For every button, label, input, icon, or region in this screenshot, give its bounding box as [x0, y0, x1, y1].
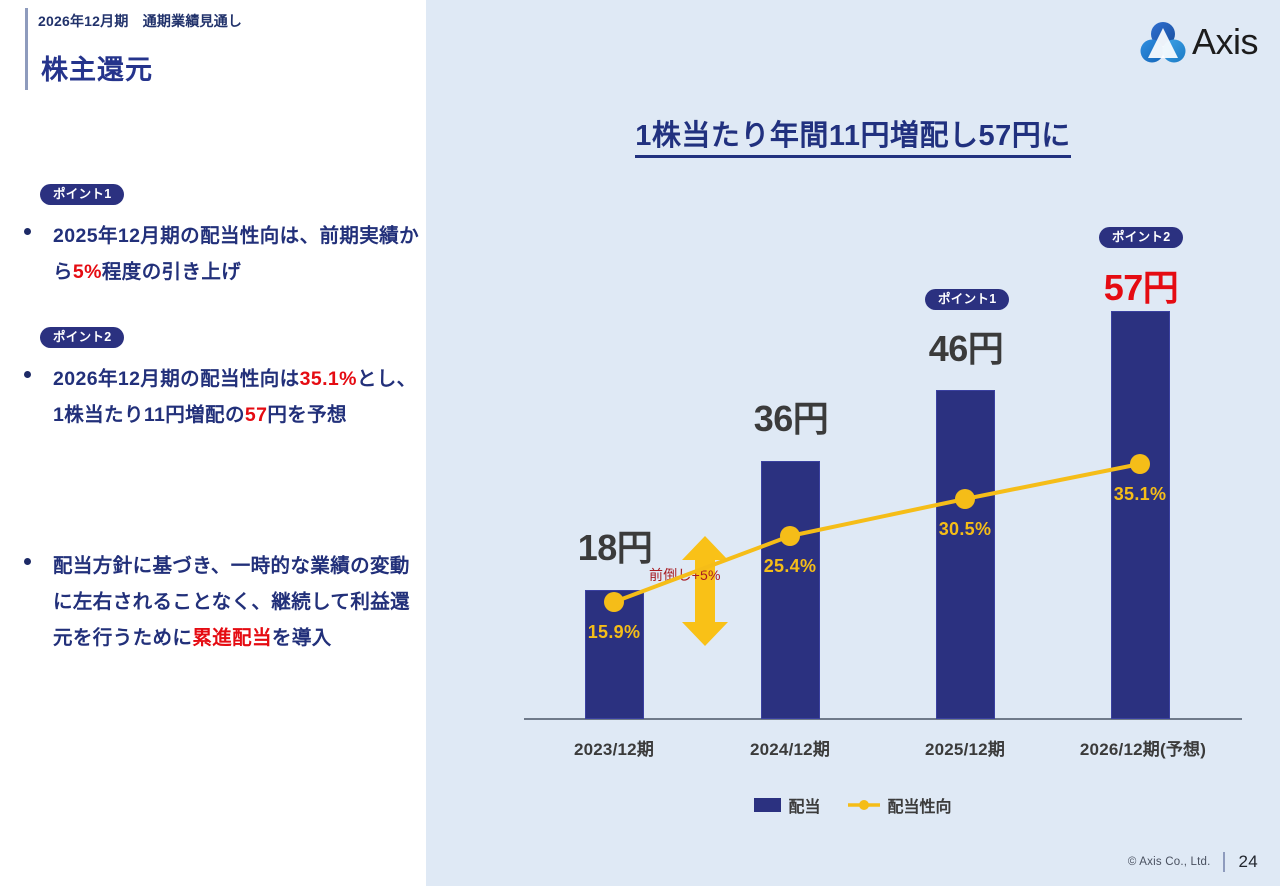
page-title: 株主還元	[41, 48, 153, 87]
bullet-2-seg-3: 57	[245, 404, 268, 426]
copyright-text: © Axis Co., Ltd.	[1128, 856, 1211, 868]
bullet-2-seg-1: 35.1%	[300, 368, 357, 390]
bullet-1-seg-2: 程度の引き上げ	[102, 261, 241, 283]
x-label-2024: 2024/12期	[715, 735, 865, 760]
bullet-item-3: 配当方針に基づき、一時的な業績の変動に左右されることなく、継続して利益還元を行う…	[24, 548, 424, 656]
x-label-2026: 2026/12期(予想)	[1058, 735, 1228, 760]
line-marker-2023	[604, 592, 624, 612]
bullet-3-seg-2: を導入	[272, 627, 332, 649]
chart-legend: 配当 配当性向	[426, 793, 1280, 817]
dividend-chart: 18円 36円 46円 57円 ポイント1 ポイント2 前倒し+5% 15.9%	[426, 0, 1280, 886]
legend-item-dividend: 配当	[754, 793, 820, 817]
slide-eyebrow: 2026年12月期 通期業績見通し	[38, 11, 242, 31]
page-number: 24	[1238, 852, 1258, 872]
bullet-dot-icon	[24, 558, 31, 565]
ratio-label-2025: 30.5%	[890, 519, 1040, 540]
bullet-item-2: 2026年12月期の配当性向は35.1%とし、1株当たり11円増配の57円を予想	[24, 361, 424, 433]
chart-panel: Axis 1株当たり年間11円増配し57円に 18円 36円 46円 57円 ポ…	[426, 0, 1280, 886]
slide-root: 2026年12月期 通期業績見通し 株主還元 ポイント1 2025年12月期の配…	[0, 0, 1280, 886]
point-badge-2: ポイント2	[40, 327, 124, 348]
bullet-1-seg-1: 5%	[73, 261, 102, 283]
bullet-dot-icon	[24, 371, 31, 378]
x-label-2023: 2023/12期	[539, 735, 689, 760]
ratio-label-2024: 25.4%	[715, 556, 865, 577]
bullet-2-seg-0: 2026年12月期の配当性向は	[53, 368, 300, 390]
footer-divider	[1223, 852, 1225, 872]
slide-footer: © Axis Co., Ltd. 24	[1128, 852, 1258, 872]
bullet-dot-icon	[24, 228, 31, 235]
bullet-item-1: 2025年12月期の配当性向は、前期実績から5%程度の引き上げ	[24, 218, 424, 290]
line-marker-2026	[1130, 454, 1150, 474]
bullet-text-1: 2025年12月期の配当性向は、前期実績から5%程度の引き上げ	[53, 218, 424, 290]
line-marker-2025	[955, 489, 975, 509]
point-badge-1: ポイント1	[40, 184, 124, 205]
bullet-3-seg-1: 累進配当	[192, 627, 272, 649]
ratio-label-2026: 35.1%	[1065, 484, 1215, 505]
ratio-label-2023: 15.9%	[539, 622, 689, 643]
legend-line-swatch-icon	[847, 798, 881, 812]
bullet-2-seg-4: 円を予想	[267, 404, 347, 426]
title-accent-rule	[25, 8, 28, 90]
bullet-text-2: 2026年12月期の配当性向は35.1%とし、1株当たり11円増配の57円を予想	[53, 361, 424, 433]
legend-label-dividend: 配当	[788, 793, 820, 817]
legend-label-payout-ratio: 配当性向	[888, 793, 952, 817]
x-label-2025: 2025/12期	[890, 735, 1040, 760]
bullet-text-3: 配当方針に基づき、一時的な業績の変動に左右されることなく、継続して利益還元を行う…	[53, 548, 424, 656]
legend-bar-swatch-icon	[754, 798, 781, 812]
legend-item-payout-ratio: 配当性向	[847, 793, 952, 817]
left-content-panel: 2026年12月期 通期業績見通し 株主還元 ポイント1 2025年12月期の配…	[0, 0, 426, 886]
line-marker-2024	[780, 526, 800, 546]
